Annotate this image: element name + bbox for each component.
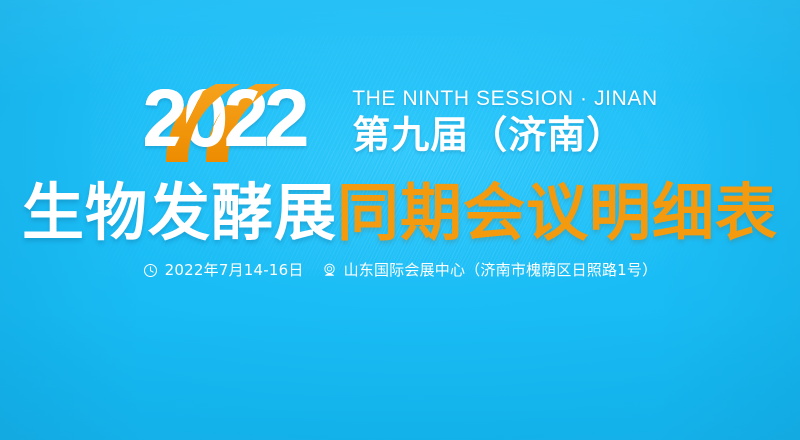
event-venue-text: 山东国际会展中心（济南市槐荫区日照路1号） [344,263,658,278]
location-pin-icon [322,262,338,278]
year-logo: 2022 2022 [142,84,338,162]
year-session-lockup: 2022 2022 THE NINTH SESSION · JINAN 第九届（… [0,84,800,162]
session-text-block: THE NINTH SESSION · JINAN 第九届（济南） [352,84,658,156]
event-meta-row: 2022年7月14-16日 山东国际会展中心（济南市槐荫区日照路1号） [0,262,800,278]
event-date: 2022年7月14-16日 [143,262,304,278]
session-english: THE NINTH SESSION · JINAN [352,88,658,109]
event-date-text: 2022年7月14-16日 [165,263,304,278]
event-venue: 山东国际会展中心（济南市槐荫区日照路1号） [322,262,658,278]
page-title: 生物发酵展同期会议明细表 [0,182,800,244]
conference-banner: 2022 2022 THE NINTH SESSION · JINAN 第九届（… [0,0,800,440]
page-title-primary: 生物发酵展 [22,176,337,249]
session-chinese: 第九届（济南） [352,116,658,156]
clock-icon [143,262,159,278]
page-title-accent: 同期会议明细表 [337,176,778,249]
year-number-overlay: 2022 [142,78,304,160]
